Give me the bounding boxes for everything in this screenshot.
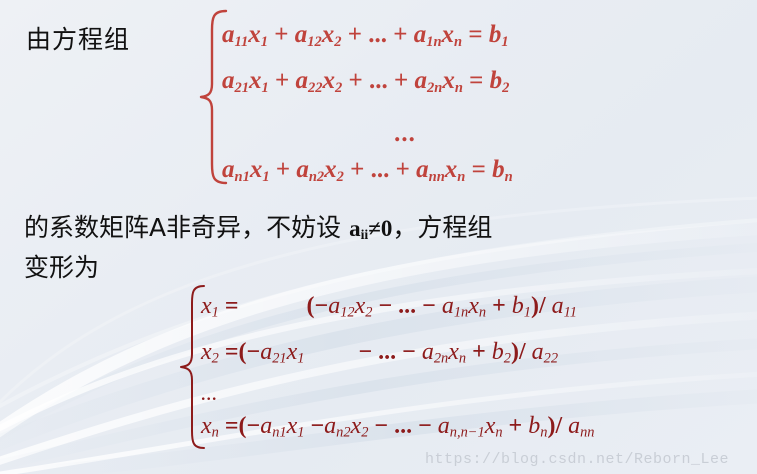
sys2-r1-x1-sub: 2 (365, 305, 372, 321)
sys2-r4-a3: a (438, 413, 450, 439)
sys2-r2-den: a (532, 339, 544, 365)
sys2-r2-plus: + (472, 339, 486, 365)
sys2-r2-x: x (201, 339, 212, 365)
sys2-r2-a2: a (422, 339, 434, 365)
sys2-r4-x: x (201, 413, 212, 439)
sys2-r1-dots: − ... − (378, 293, 435, 319)
sys2-r1-a2-sub: 1n (454, 305, 468, 321)
sys2-r4-x1: x (287, 413, 298, 439)
sys2-r4-a1: a (260, 413, 272, 439)
sys2-r1-x2: x (468, 293, 479, 319)
sys2-r1-a1-sub: 12 (340, 305, 354, 321)
sys2-r2-den-sub: 22 (544, 351, 558, 367)
sys2-r2-close: ) (511, 339, 519, 365)
sys2-r2-neg: − (247, 339, 261, 365)
sys2-r2-a2-sub: 2n (434, 351, 448, 367)
sys2-r1-slash: / (539, 293, 546, 319)
sys2-r2-a1: a (260, 339, 272, 365)
system2-row-4: xn =(−an1x1 −an2x2 − ... − an,n−1xn + bn… (201, 414, 595, 440)
sys2-r2-slash: / (519, 339, 526, 365)
sys2-r2-x2-sub: n (459, 351, 466, 367)
sys2-r4-neg: − (247, 413, 261, 439)
sys2-r4-slash: / (555, 413, 562, 439)
sys2-r1-open: ( (307, 293, 315, 319)
sys2-r4-x2-sub: 2 (361, 425, 368, 441)
sys2-r1-x: x (201, 293, 212, 319)
sys2-r1-b-sub: 1 (524, 305, 531, 321)
sys2-r1-x-sub: 1 (212, 305, 219, 321)
system2-row-1: x1 = (−a12x2 − ... − a1nxn + b1)/ a11 (201, 294, 577, 320)
sys2-r2-dots: − ... − (358, 339, 415, 365)
sys2-r1-eq: = (225, 293, 239, 319)
sys2-r1-a2: a (442, 293, 454, 319)
sys2-r4-den-sub: nn (580, 425, 594, 441)
sys2-r2-a1-sub: 21 (272, 351, 286, 367)
sys2-r4-a3-sub: n,n−1 (450, 425, 485, 441)
sys2-r2-open: ( (239, 339, 247, 365)
sys2-r4-x1-sub: 1 (297, 425, 304, 441)
sys2-r2-b-sub: 2 (504, 351, 511, 367)
watermark-url: https://blog.csdn.net/Reborn_Lee (425, 451, 729, 468)
sys2-r4-b: b (528, 413, 540, 439)
sys2-r4-den: a (568, 413, 580, 439)
sys2-r1-x1: x (355, 293, 366, 319)
sys2-r4-neg2: − (310, 413, 324, 439)
sys2-r2-x-sub: 2 (212, 351, 219, 367)
sys2-r4-a1-sub: n1 (272, 425, 286, 441)
sys2-r1-plus: + (492, 293, 506, 319)
sys2-r1-b: b (512, 293, 524, 319)
sys2-r1-den-sub: 11 (564, 305, 577, 321)
sys2-r4-a2: a (324, 413, 336, 439)
system2-row-ellipsis: ... (201, 382, 218, 404)
sys2-r2-x2: x (448, 339, 459, 365)
sys2-r2-x1: x (287, 339, 298, 365)
slide-canvas: 由方程组 a11x1 + a12x2 + ... + a1nxn = b1 a2… (0, 0, 757, 474)
sys2-r1-neg: − (315, 293, 329, 319)
sys2-r4-x-sub: n (212, 425, 219, 441)
sys2-r4-x3: x (485, 413, 496, 439)
equation-system-2: x1 = (−a12x2 − ... − a1nxn + b1)/ a11 x2… (0, 0, 757, 474)
sys2-r1-x2-sub: n (479, 305, 486, 321)
sys2-r4-a2-sub: n2 (336, 425, 350, 441)
sys2-r2-eq: = (225, 339, 239, 365)
sys2-r4-x2: x (351, 413, 362, 439)
sys2-r4-open: ( (239, 413, 247, 439)
sys2-r4-x3-sub: n (495, 425, 502, 441)
sys2-r4-dots: − ... − (374, 413, 431, 439)
sys2-r1-den: a (552, 293, 564, 319)
sys2-r1-close: ) (531, 293, 539, 319)
sys2-r4-eq: = (225, 413, 239, 439)
sys2-r2-b: b (492, 339, 504, 365)
system2-row-2: x2 =(−a21x1 − ... − a2nxn + b2)/ a22 (201, 340, 558, 366)
sys2-r1-a1: a (328, 293, 340, 319)
sys2-r2-x1-sub: 1 (297, 351, 304, 367)
sys2-r4-plus: + (509, 413, 523, 439)
